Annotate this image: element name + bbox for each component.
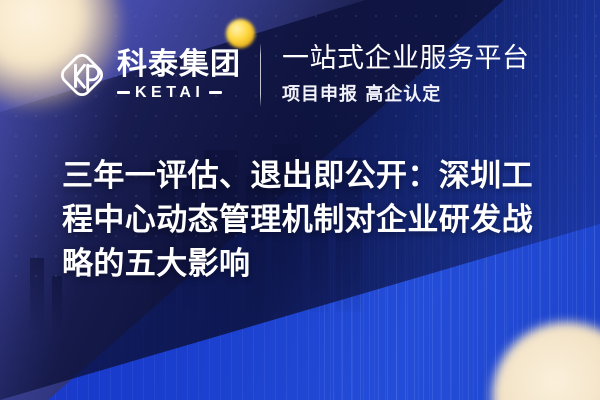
logo-dash-left-icon — [117, 91, 130, 94]
banner-header: 科泰集团 KETAI 一站式企业服务平台 项目申报 高企认定 — [56, 44, 530, 106]
promo-banner: 科泰集团 KETAI 一站式企业服务平台 项目申报 高企认定 三年一评估、退出即… — [0, 0, 600, 400]
logo-en-row: KETAI — [117, 85, 241, 101]
logo-wordmark: 科泰集团 KETAI — [117, 50, 241, 101]
company-logo[interactable]: 科泰集团 KETAI — [56, 49, 241, 101]
logo-company-name-en: KETAI — [135, 85, 204, 101]
kp-monogram-diamond-icon — [56, 49, 108, 101]
tagline-block: 一站式企业服务平台 项目申报 高企认定 — [282, 44, 530, 105]
tagline-secondary: 项目申报 高企认定 — [282, 80, 530, 106]
headline-title: 三年一评估、退出即公开：深圳工程中心动态管理机制对企业研发战略的五大影响 — [62, 154, 542, 286]
tagline-primary: 一站式企业服务平台 — [282, 44, 530, 74]
logo-dash-right-icon — [209, 91, 222, 94]
vertical-divider — [260, 44, 261, 106]
logo-company-name-cn: 科泰集团 — [117, 50, 241, 80]
